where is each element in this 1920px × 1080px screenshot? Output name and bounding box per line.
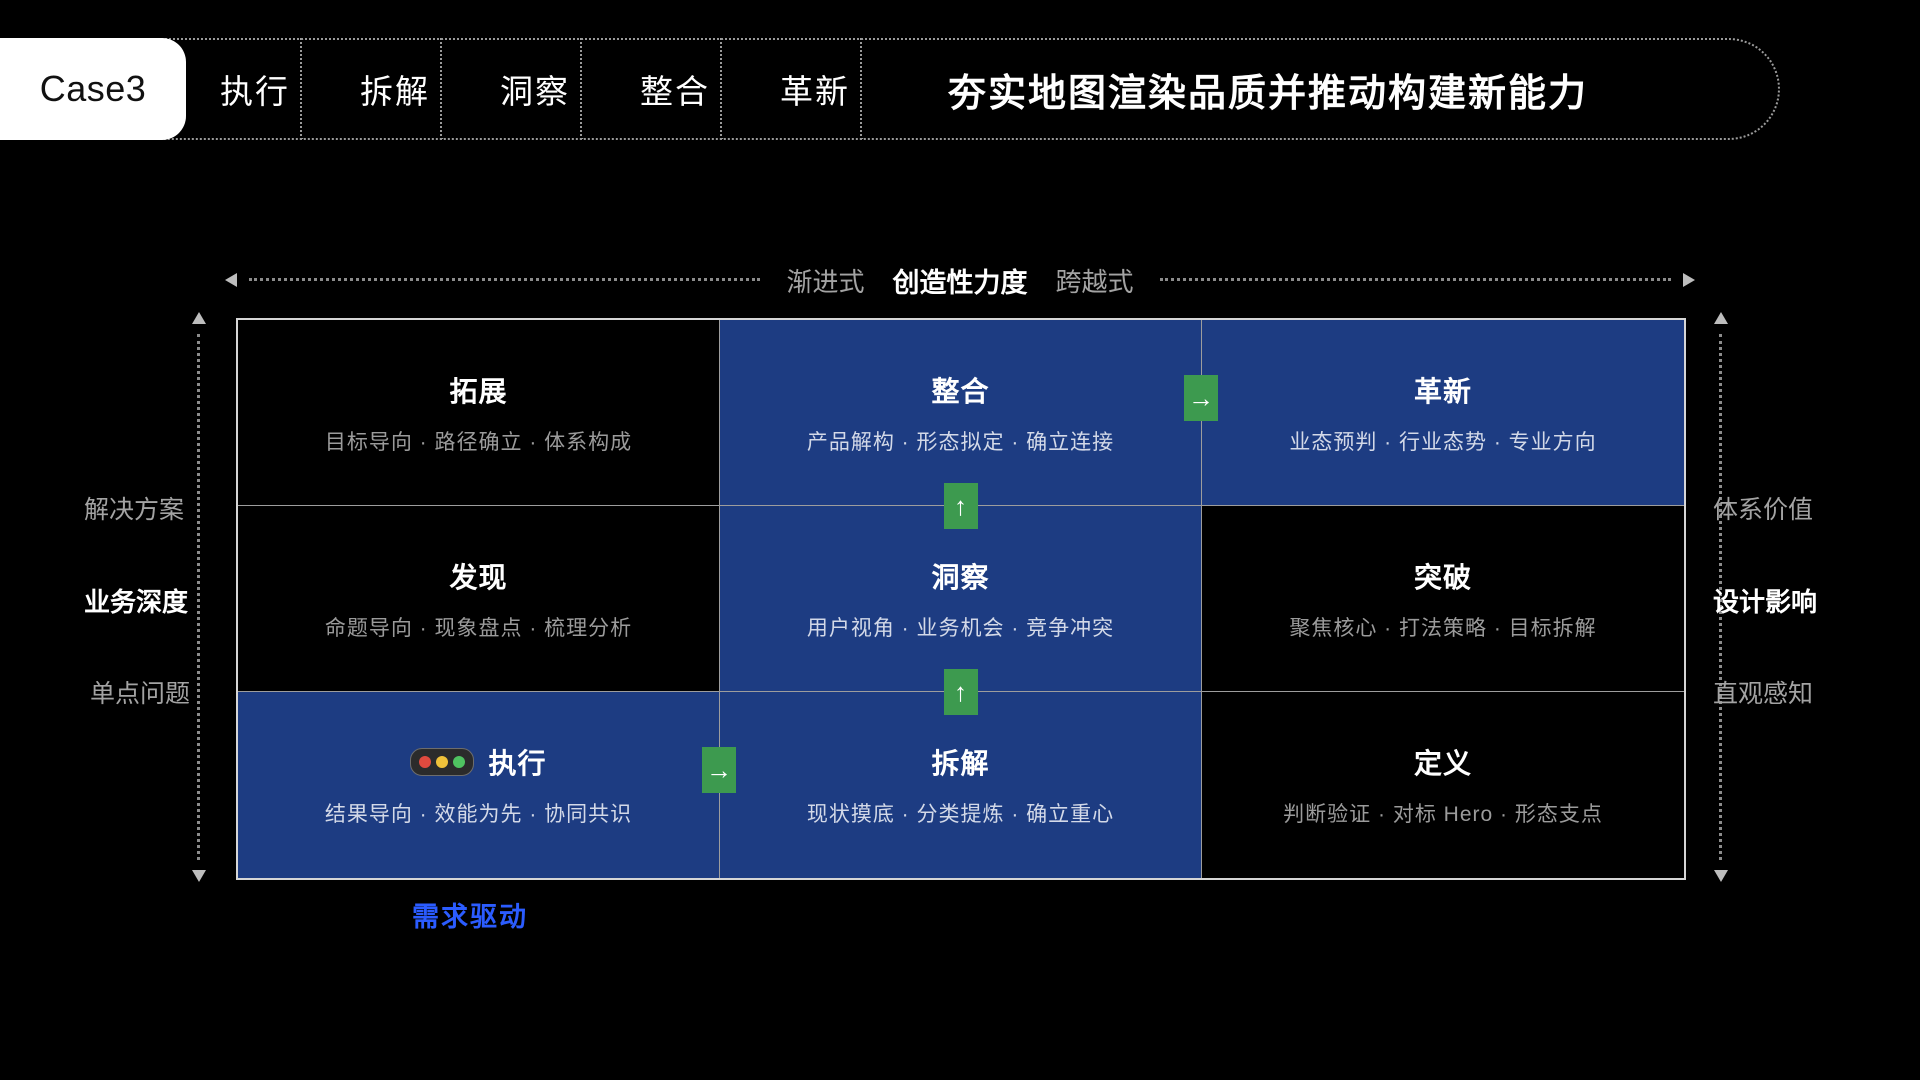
arrow-right-icon: → [706, 757, 732, 783]
axis-line-right [1160, 278, 1671, 282]
left-axis-bottom-label: 单点问题 [90, 674, 190, 710]
left-axis-center-label: 业务深度 [84, 582, 188, 619]
right-axis-top-label: 体系价值 [1713, 490, 1813, 526]
step-arrow-insight-to-integrate: ↑ [944, 483, 978, 529]
step-arrow-breakdown-to-insight: ↑ [944, 669, 978, 715]
cell-title: 突破 [1414, 556, 1472, 596]
matrix-cell-整合[interactable]: 整合 产品解构 · 形态拟定 · 确立连接 → [720, 320, 1202, 506]
right-axis-bottom-label: 直观感知 [1713, 674, 1813, 710]
cell-title: 洞察 [931, 556, 989, 596]
top-axis-left-label: 渐进式 [772, 262, 878, 299]
cell-title-text: 拓展 [449, 370, 507, 410]
step-arrow-integrate-to-innovate: → [1184, 375, 1218, 421]
cell-title-text: 发现 [449, 556, 507, 596]
cell-title-text: 执行 [488, 742, 546, 782]
cell-title-text: 洞察 [931, 556, 989, 596]
case-badge-label: Case3 [40, 68, 147, 110]
cell-title: 整合 [931, 370, 989, 410]
matrix-cell-突破[interactable]: 突破 聚焦核心 · 打法策略 · 目标拆解 [1202, 506, 1684, 692]
cell-title: 拆解 [931, 742, 989, 782]
matrix-diagram: 渐进式 创造性力度 跨越式 解决方案 业务深度 单点问题 体系价值 设计影响 直… [0, 0, 1920, 1080]
axis-arrow-down-icon [192, 870, 206, 882]
left-axis [190, 312, 208, 882]
cell-title: 拓展 [449, 370, 507, 410]
cell-subtitle: 用户视角 · 业务机会 · 竞争冲突 [807, 612, 1114, 642]
arrow-right-icon: → [1188, 385, 1214, 411]
traffic-light-yellow-dot [436, 756, 448, 768]
matrix-cell-革新[interactable]: 革新 业态预判 · 行业态势 · 专业方向 [1202, 320, 1684, 506]
axis-arrow-down-icon [1714, 870, 1728, 882]
axis-arrow-right-icon [1683, 273, 1695, 287]
arrow-up-icon: ↑ [954, 493, 967, 519]
step-arrow-execute-to-breakdown: → [702, 747, 736, 793]
traffic-light-red-dot [419, 756, 431, 768]
matrix-cell-拓展[interactable]: 拓展 目标导向 · 路径确立 · 体系构成 [238, 320, 720, 506]
traffic-light-icon [410, 748, 474, 776]
cell-title: 发现 [449, 556, 507, 596]
axis-arrow-left-icon [225, 273, 237, 287]
arrow-up-icon: ↑ [954, 679, 967, 705]
case-badge[interactable]: Case3 [0, 38, 186, 140]
axis-arrow-up-icon [1714, 312, 1728, 324]
top-axis-center-label: 创造性力度 [879, 261, 1042, 300]
matrix-cell-拆解[interactable]: 拆解 现状摸底 · 分类提炼 · 确立重心 ↑ [720, 692, 1202, 878]
matrix-cell-发现[interactable]: 发现 命题导向 · 现象盘点 · 梳理分析 [238, 506, 720, 692]
cell-subtitle: 命题导向 · 现象盘点 · 梳理分析 [325, 612, 632, 642]
cell-title: 革新 [1414, 370, 1472, 410]
cell-title-text: 拆解 [931, 742, 989, 782]
top-axis-right-label: 跨越式 [1042, 262, 1148, 299]
matrix-cell-执行[interactable]: 执行 结果导向 · 效能为先 · 协同共识 → [238, 692, 720, 878]
axis-line-left [249, 278, 760, 282]
cell-subtitle: 聚焦核心 · 打法策略 · 目标拆解 [1289, 612, 1596, 642]
cell-subtitle: 目标导向 · 路径确立 · 体系构成 [325, 426, 632, 456]
cell-subtitle: 产品解构 · 形态拟定 · 确立连接 [807, 426, 1114, 456]
cell-subtitle: 现状摸底 · 分类提炼 · 确立重心 [807, 798, 1114, 828]
cell-title-text: 突破 [1414, 556, 1472, 596]
top-axis: 渐进式 创造性力度 跨越式 [225, 262, 1695, 298]
axis-line-vertical-left [197, 334, 201, 860]
cell-title: 执行 [410, 742, 546, 782]
cell-subtitle: 业态预判 · 行业态势 · 专业方向 [1289, 426, 1596, 456]
matrix-cell-洞察[interactable]: 洞察 用户视角 · 业务机会 · 竞争冲突 ↑ [720, 506, 1202, 692]
bottom-note: 需求驱动 [412, 895, 528, 934]
cell-title-text: 革新 [1414, 370, 1472, 410]
left-axis-top-label: 解决方案 [84, 490, 184, 526]
traffic-light-green-dot [453, 756, 465, 768]
matrix-cell-定义[interactable]: 定义 判断验证 · 对标 Hero · 形态支点 [1202, 692, 1684, 878]
axis-arrow-up-icon [192, 312, 206, 324]
cell-title-text: 整合 [931, 370, 989, 410]
cell-title-text: 定义 [1414, 742, 1472, 782]
cell-title: 定义 [1414, 742, 1472, 782]
matrix-grid: 拓展 目标导向 · 路径确立 · 体系构成 整合 产品解构 · 形态拟定 · 确… [236, 318, 1686, 880]
right-axis-center-label: 设计影响 [1713, 582, 1817, 619]
cell-subtitle: 判断验证 · 对标 Hero · 形态支点 [1283, 798, 1603, 828]
cell-subtitle: 结果导向 · 效能为先 · 协同共识 [325, 798, 632, 828]
